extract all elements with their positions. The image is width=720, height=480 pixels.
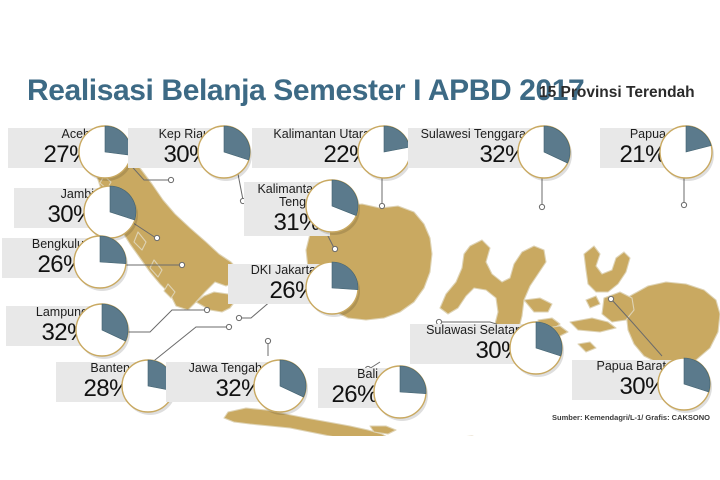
source-credit: Sumber: Kemendagri/L-1/ Grafis: CAKSONO xyxy=(552,413,710,422)
pie-chart-sulawesi-tenggara[interactable] xyxy=(516,124,574,185)
pie-chart-bengkulu[interactable] xyxy=(72,234,130,295)
pie-chart-aceh[interactable] xyxy=(77,124,135,185)
pie-chart-sulawasi-selatan[interactable] xyxy=(508,320,566,381)
pie-chart-kalimantan-utara[interactable] xyxy=(356,124,414,185)
header: Realisasi Belanja Semester I APBD 2017 1… xyxy=(0,30,720,82)
infographic-root: Realisasi Belanja Semester I APBD 2017 1… xyxy=(0,0,720,480)
pie-chart-dki-jakarta[interactable] xyxy=(304,260,362,321)
pie-chart-papua[interactable] xyxy=(658,124,716,185)
pie-chart-jawa-tengah[interactable] xyxy=(252,358,310,419)
pie-chart-papua-barat[interactable] xyxy=(656,356,714,417)
province-name: Jawa Tengah xyxy=(189,362,262,376)
pie-chart-kep-riau[interactable] xyxy=(196,124,254,185)
province-name: Sulawesi Tenggara xyxy=(421,128,526,142)
pie-chart-kalimantan-tengah[interactable] xyxy=(304,178,362,239)
pie-chart-lampung[interactable] xyxy=(74,302,132,363)
pie-chart-bali[interactable] xyxy=(372,364,430,425)
